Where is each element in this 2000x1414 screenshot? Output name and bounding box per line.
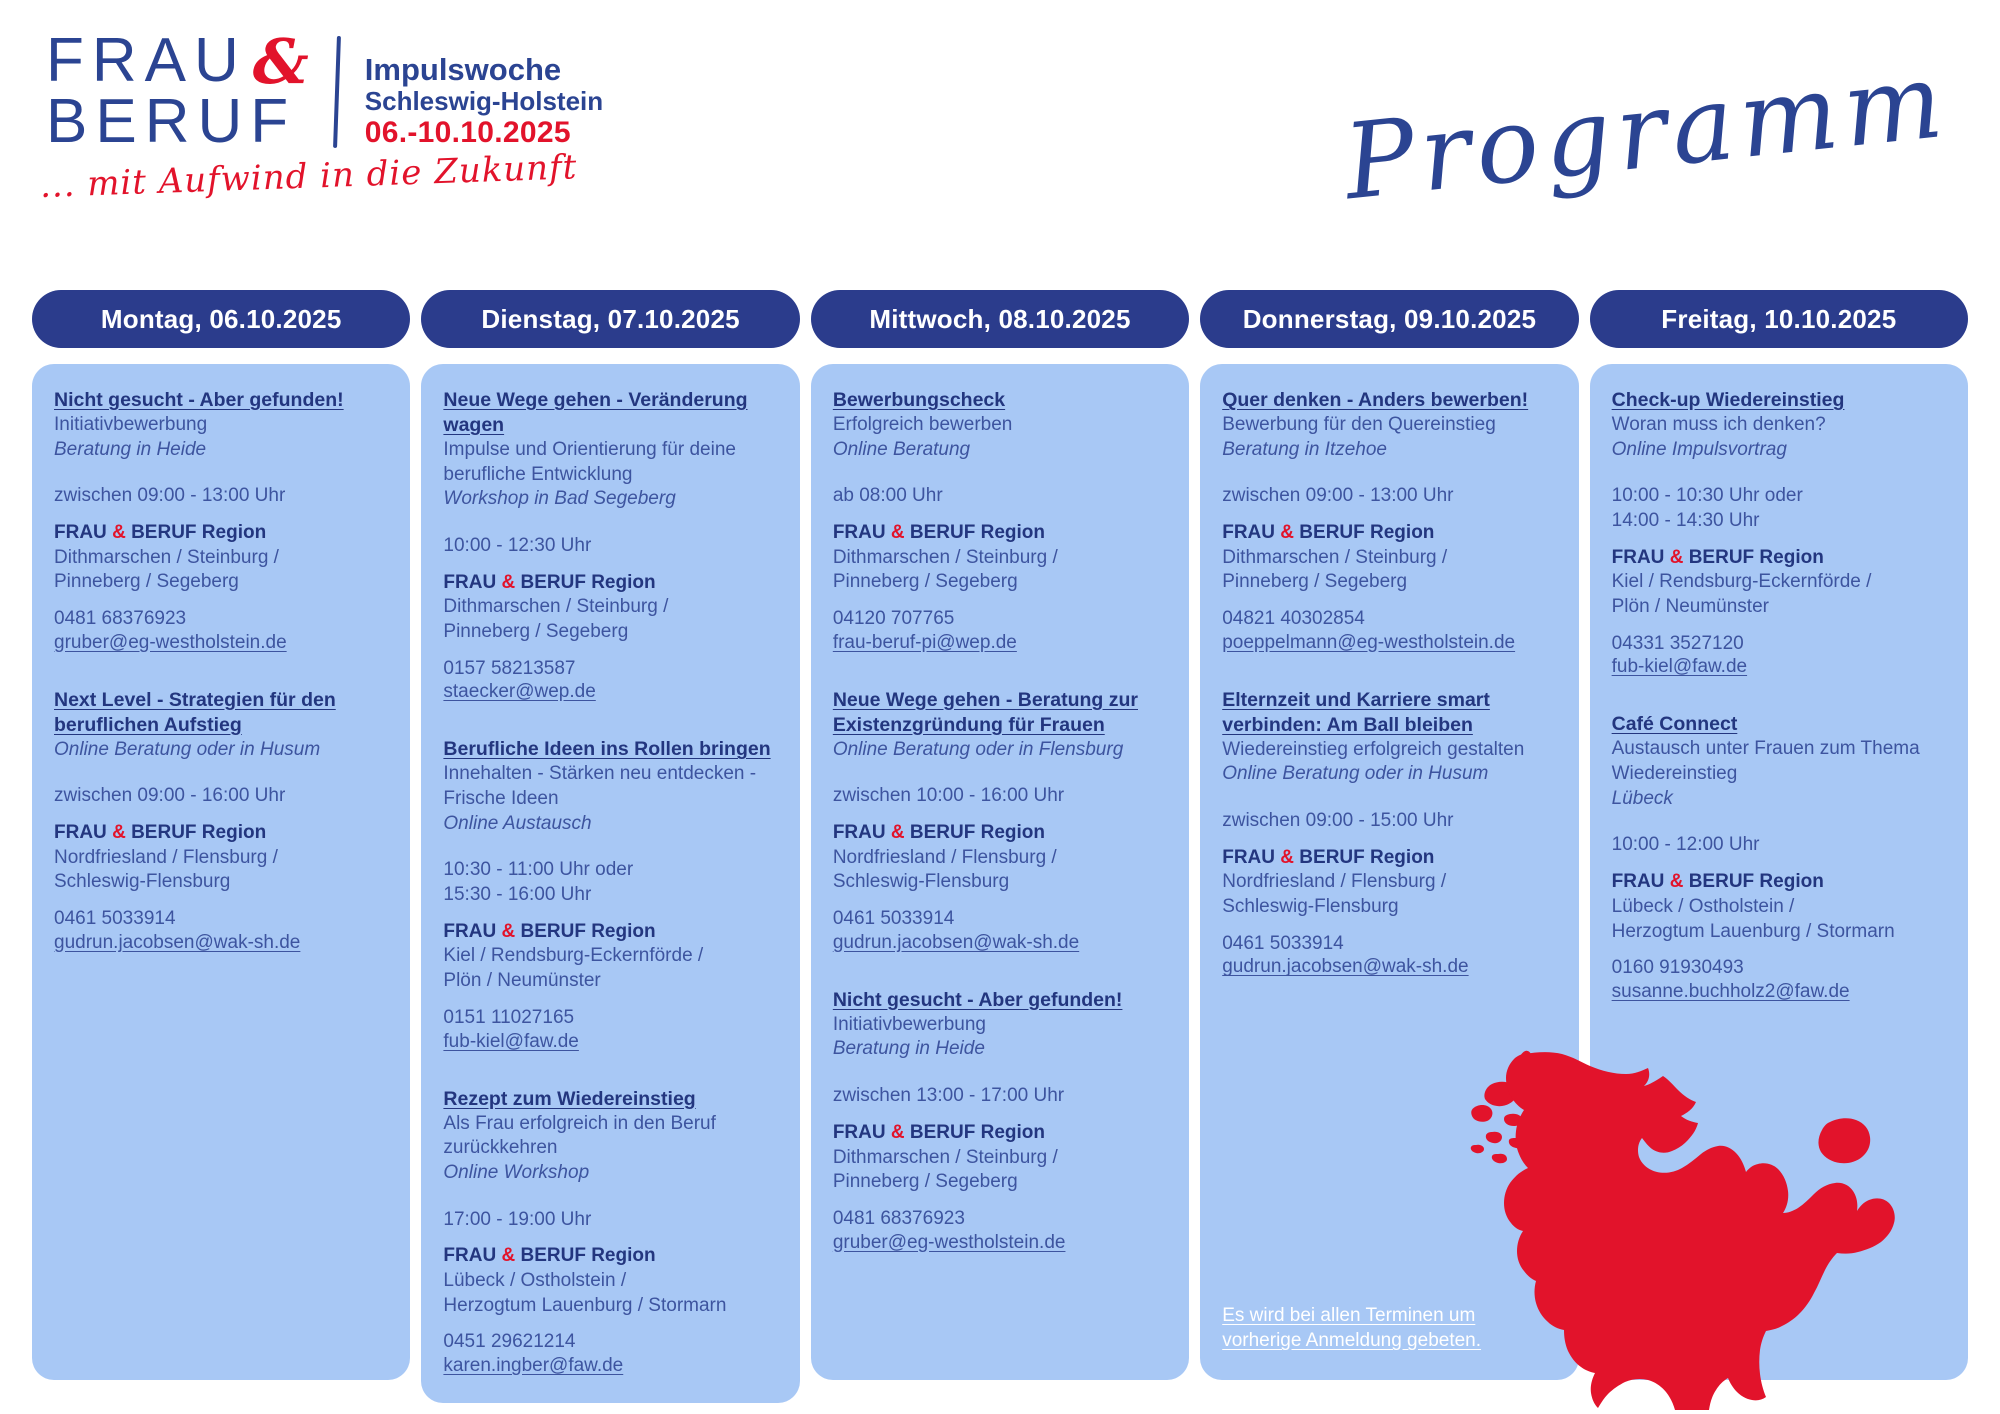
event-email-link[interactable]: fub-kiel@faw.de (443, 1031, 777, 1053)
event-format: Online Workshop (443, 1161, 777, 1186)
event-subtitle: Als Frau erfolgreich in den Beruf zurück… (443, 1112, 777, 1161)
day-header-1[interactable]: Montag, 06.10.2025 (32, 290, 410, 348)
region-suffix: BERUF Region (905, 522, 1045, 543)
event-time: ab 08:00 Uhr (833, 484, 1167, 509)
event-item[interactable]: Berufliche Ideen ins Rollen bringenInneh… (443, 737, 777, 1052)
event-region-line-2: Plön / Neumünster (443, 969, 777, 994)
event-format: Beratung in Itzehoe (1222, 438, 1556, 463)
event-region-label: FRAU & BERUF Region (443, 920, 777, 945)
event-email-link[interactable]: susanne.buchholz2@faw.de (1612, 981, 1946, 1003)
event-region-line-2: Pinneberg / Segeberg (443, 620, 777, 645)
event-time: 10:00 - 12:30 Uhr (443, 534, 777, 559)
event-subtitle: Innehalten - Stärken neu entdecken - Fri… (443, 762, 777, 811)
event-region-line-1: Nordfriesland / Flensburg / (54, 846, 388, 871)
event-item[interactable]: Rezept zum WiedereinstiegAls Frau erfolg… (443, 1087, 777, 1377)
region-ampersand-icon: & (501, 921, 515, 942)
event-subtitle: Initiativbewerbung (54, 413, 388, 438)
event-region-line-2: Schleswig-Flensburg (833, 870, 1167, 895)
region-ampersand-icon: & (891, 822, 905, 843)
day-column: Montag, 06.10.2025Nicht gesucht - Aber g… (32, 290, 410, 1380)
event-phone[interactable]: 04821 40302854 (1222, 607, 1556, 632)
event-item[interactable]: Next Level - Strategien für den beruflic… (54, 688, 388, 954)
event-subtitle: Impulse und Orientierung für deine beruf… (443, 438, 777, 487)
event-title[interactable]: Neue Wege gehen - Veränderung wagen (443, 388, 777, 438)
event-item[interactable]: BewerbungscheckErfolgreich bewerbenOnlin… (833, 388, 1167, 654)
event-region-line-2: Schleswig-Flensburg (1222, 895, 1556, 920)
region-prefix: FRAU (54, 522, 112, 543)
event-time-alt: 14:00 - 14:30 Uhr (1612, 509, 1946, 534)
poster-header: FRAU & BERUF Impulswoche Schleswig-Holst… (0, 0, 2000, 290)
event-time: 10:30 - 11:00 Uhr oder (443, 858, 777, 883)
region-suffix: BERUF Region (905, 822, 1045, 843)
event-region-line-1: Dithmarschen / Steinburg / (54, 546, 388, 571)
event-subtitle: Woran muss ich denken? (1612, 413, 1946, 438)
day-column: Dienstag, 07.10.2025Neue Wege gehen - Ve… (421, 290, 799, 1380)
region-suffix: BERUF Region (1683, 547, 1823, 568)
region-ampersand-icon: & (501, 572, 515, 593)
event-region-label: FRAU & BERUF Region (1222, 521, 1556, 546)
event-email-link[interactable]: karen.ingber@faw.de (443, 1355, 777, 1377)
event-item[interactable]: Neue Wege gehen - Beratung zur Existenzg… (833, 688, 1167, 954)
event-region-label: FRAU & BERUF Region (1612, 546, 1946, 571)
region-prefix: FRAU (443, 921, 501, 942)
event-region-line-2: Herzogtum Lauenburg / Stormarn (443, 1294, 777, 1319)
event-region-line-1: Dithmarschen / Steinburg / (833, 1146, 1167, 1171)
event-region-line-2: Schleswig-Flensburg (54, 870, 388, 895)
region-ampersand-icon: & (1670, 547, 1684, 568)
event-time: zwischen 09:00 - 16:00 Uhr (54, 784, 388, 809)
region-suffix: BERUF Region (905, 1122, 1045, 1143)
event-region-label: FRAU & BERUF Region (54, 521, 388, 546)
program-poster: FRAU & BERUF Impulswoche Schleswig-Holst… (0, 0, 2000, 1414)
region-suffix: BERUF Region (515, 921, 655, 942)
logo-impulswoche: Impulswoche (365, 52, 603, 87)
region-prefix: FRAU (1612, 871, 1670, 892)
event-format: Beratung in Heide (833, 1037, 1167, 1062)
region-ampersand-icon: & (891, 522, 905, 543)
region-suffix: BERUF Region (1294, 522, 1434, 543)
logo-word-frau: FRAU (46, 31, 247, 92)
logo-word-beruf: BERUF (46, 92, 296, 153)
event-region-line-2: Pinneberg / Segeberg (833, 570, 1167, 595)
event-title[interactable]: Elternzeit und Karriere smart verbinden:… (1222, 688, 1556, 738)
event-item[interactable]: Nicht gesucht - Aber gefunden!Initiativb… (833, 988, 1167, 1254)
event-region-line-2: Plön / Neumünster (1612, 595, 1946, 620)
region-suffix: BERUF Region (1294, 847, 1434, 868)
event-time: zwischen 13:00 - 17:00 Uhr (833, 1084, 1167, 1109)
event-item[interactable]: Nicht gesucht - Aber gefunden!Initiativb… (54, 388, 388, 654)
day-card: BewerbungscheckErfolgreich bewerbenOnlin… (811, 364, 1189, 1380)
logo-date-range: 06.-10.10.2025 (365, 116, 603, 150)
logo-wordmark: FRAU & BERUF (46, 30, 309, 153)
event-email-link[interactable]: gruber@eg-westholstein.de (833, 1232, 1167, 1254)
day-header-4[interactable]: Donnerstag, 09.10.2025 (1200, 290, 1578, 348)
event-format: Workshop in Bad Segeberg (443, 487, 777, 512)
logo-subtitle-block: Impulswoche Schleswig-Holstein 06.-10.10… (365, 30, 603, 150)
event-item[interactable]: Check-up WiedereinstiegWoran muss ich de… (1612, 388, 1946, 678)
event-format: Lübeck (1612, 787, 1946, 812)
logo-tagline: ... mit Aufwind in die Zukunft (39, 147, 578, 206)
event-phone[interactable]: 0451 29621214 (443, 1330, 777, 1355)
region-ampersand-icon: & (501, 1245, 515, 1266)
event-subtitle: Bewerbung für den Quereinstieg (1222, 413, 1556, 438)
event-region-label: FRAU & BERUF Region (833, 821, 1167, 846)
event-region-line-2: Pinneberg / Segeberg (1222, 570, 1556, 595)
event-item[interactable]: Elternzeit und Karriere smart verbinden:… (1222, 688, 1556, 979)
event-region-line-1: Kiel / Rendsburg-Eckernförde / (1612, 570, 1946, 595)
event-subtitle: Erfolgreich bewerben (833, 413, 1167, 438)
region-prefix: FRAU (833, 522, 891, 543)
region-ampersand-icon: & (112, 822, 126, 843)
event-phone[interactable]: 0151 11027165 (443, 1006, 777, 1031)
event-title[interactable]: Check-up Wiedereinstieg (1612, 388, 1946, 413)
logo-ampersand-icon: & (253, 32, 309, 93)
event-region-line-2: Pinneberg / Segeberg (833, 1170, 1167, 1195)
day-header-3[interactable]: Mittwoch, 08.10.2025 (811, 290, 1189, 348)
region-suffix: BERUF Region (126, 822, 266, 843)
event-subtitle: Initiativbewerbung (833, 1013, 1167, 1038)
event-region-line-1: Lübeck / Ostholstein / (1612, 895, 1946, 920)
event-time: zwischen 09:00 - 13:00 Uhr (54, 484, 388, 509)
event-time: zwischen 09:00 - 15:00 Uhr (1222, 809, 1556, 834)
event-phone[interactable]: 0157 58213587 (443, 657, 777, 682)
event-item[interactable]: Neue Wege gehen - Veränderung wagenImpul… (443, 388, 777, 703)
registration-note: Es wird bei allen Terminen um vorherige … (1222, 1303, 1556, 1354)
event-subtitle: Wiedereinstieg erfolgreich gestalten (1222, 738, 1556, 763)
event-phone[interactable]: 0481 68376923 (833, 1207, 1167, 1232)
event-time: zwischen 09:00 - 13:00 Uhr (1222, 484, 1556, 509)
event-format: Online Beratung oder in Flensburg (833, 738, 1167, 763)
event-format: Online Beratung (833, 438, 1167, 463)
event-email-link[interactable]: gudrun.jacobsen@wak-sh.de (54, 932, 388, 954)
event-email-link[interactable]: gruber@eg-westholstein.de (54, 632, 388, 654)
event-item[interactable]: Quer denken - Anders bewerben!Bewerbung … (1222, 388, 1556, 654)
event-region-label: FRAU & BERUF Region (443, 1244, 777, 1269)
event-title[interactable]: Bewerbungscheck (833, 388, 1167, 413)
region-ampersand-icon: & (1280, 847, 1294, 868)
day-column: Mittwoch, 08.10.2025BewerbungscheckErfol… (811, 290, 1189, 1380)
event-item[interactable]: Café ConnectAustausch unter Frauen zum T… (1612, 712, 1946, 1002)
region-prefix: FRAU (833, 1122, 891, 1143)
event-region-line-2: Pinneberg / Segeberg (54, 570, 388, 595)
region-prefix: FRAU (443, 572, 501, 593)
day-card: Neue Wege gehen - Veränderung wagenImpul… (421, 364, 799, 1403)
day-column: Donnerstag, 09.10.2025Quer denken - Ande… (1200, 290, 1578, 1380)
event-title[interactable]: Café Connect (1612, 712, 1946, 737)
event-region-line-1: Dithmarschen / Steinburg / (833, 546, 1167, 571)
event-title[interactable]: Berufliche Ideen ins Rollen bringen (443, 737, 777, 762)
event-title[interactable]: Nicht gesucht - Aber gefunden! (833, 988, 1167, 1013)
day-column: Freitag, 10.10.2025Check-up Wiedereinsti… (1590, 290, 1968, 1380)
region-ampersand-icon: & (112, 522, 126, 543)
event-region-line-1: Nordfriesland / Flensburg / (833, 846, 1167, 871)
region-prefix: FRAU (1222, 522, 1280, 543)
region-prefix: FRAU (54, 822, 112, 843)
event-phone[interactable]: 0461 5033914 (833, 907, 1167, 932)
event-phone[interactable]: 04331 3527120 (1612, 632, 1946, 657)
event-title[interactable]: Next Level - Strategien für den beruflic… (54, 688, 388, 738)
event-region-line-1: Dithmarschen / Steinburg / (1222, 546, 1556, 571)
event-format: Online Beratung oder in Husum (54, 738, 388, 763)
event-format: Beratung in Heide (54, 438, 388, 463)
event-format: Online Impulsvortrag (1612, 438, 1946, 463)
region-suffix: BERUF Region (515, 1245, 655, 1266)
event-region-line-1: Nordfriesland / Flensburg / (1222, 870, 1556, 895)
event-region-line-2: Herzogtum Lauenburg / Stormarn (1612, 920, 1946, 945)
event-region-line-1: Kiel / Rendsburg-Eckernförde / (443, 944, 777, 969)
event-email-link[interactable]: fub-kiel@faw.de (1612, 656, 1946, 678)
event-time: zwischen 10:00 - 16:00 Uhr (833, 784, 1167, 809)
logo-divider (333, 36, 341, 148)
event-email-link[interactable]: gudrun.jacobsen@wak-sh.de (833, 932, 1167, 954)
event-email-link[interactable]: gudrun.jacobsen@wak-sh.de (1222, 956, 1556, 978)
event-region-label: FRAU & BERUF Region (833, 521, 1167, 546)
event-email-link[interactable]: staecker@wep.de (443, 681, 777, 703)
event-phone[interactable]: 04120 707765 (833, 607, 1167, 632)
region-prefix: FRAU (833, 822, 891, 843)
day-header-5[interactable]: Freitag, 10.10.2025 (1590, 290, 1968, 348)
day-card: Nicht gesucht - Aber gefunden!Initiativb… (32, 364, 410, 1380)
event-title[interactable]: Quer denken - Anders bewerben! (1222, 388, 1556, 413)
event-region-label: FRAU & BERUF Region (833, 1121, 1167, 1146)
region-prefix: FRAU (1612, 547, 1670, 568)
program-week-grid: Montag, 06.10.2025Nicht gesucht - Aber g… (32, 290, 1968, 1380)
event-region-label: FRAU & BERUF Region (1222, 846, 1556, 871)
region-prefix: FRAU (443, 1245, 501, 1266)
logo-schleswig-holstein: Schleswig-Holstein (365, 87, 603, 116)
event-phone[interactable]: 0461 5033914 (1222, 932, 1556, 957)
day-card: Check-up WiedereinstiegWoran muss ich de… (1590, 364, 1968, 1380)
event-phone[interactable]: 0160 91930493 (1612, 956, 1946, 981)
region-ampersand-icon: & (1280, 522, 1294, 543)
event-title[interactable]: Nicht gesucht - Aber gefunden! (54, 388, 388, 413)
event-region-label: FRAU & BERUF Region (1612, 870, 1946, 895)
event-region-line-1: Dithmarschen / Steinburg / (443, 595, 777, 620)
day-card: Quer denken - Anders bewerben!Bewerbung … (1200, 364, 1578, 1380)
day-header-2[interactable]: Dienstag, 07.10.2025 (421, 290, 799, 348)
region-prefix: FRAU (1222, 847, 1280, 868)
region-ampersand-icon: & (1670, 871, 1684, 892)
event-time-alt: 15:30 - 16:00 Uhr (443, 883, 777, 908)
event-time: 10:00 - 10:30 Uhr oder (1612, 484, 1946, 509)
event-region-label: FRAU & BERUF Region (443, 571, 777, 596)
region-suffix: BERUF Region (1683, 871, 1823, 892)
event-format: Online Beratung oder in Husum (1222, 762, 1556, 787)
event-format: Online Austausch (443, 812, 777, 837)
event-region-label: FRAU & BERUF Region (54, 821, 388, 846)
event-email-link[interactable]: frau-beruf-pi@wep.de (833, 632, 1167, 654)
event-time: 17:00 - 19:00 Uhr (443, 1208, 777, 1233)
event-email-link[interactable]: poeppelmann@eg-westholstein.de (1222, 632, 1556, 654)
event-title[interactable]: Rezept zum Wiedereinstieg (443, 1087, 777, 1112)
event-subtitle: Austausch unter Frauen zum Thema Wiedere… (1612, 737, 1946, 786)
event-phone[interactable]: 0461 5033914 (54, 907, 388, 932)
page-title: Programm (1339, 39, 1954, 224)
event-phone[interactable]: 0481 68376923 (54, 607, 388, 632)
frau-und-beruf-logo: FRAU & BERUF Impulswoche Schleswig-Holst… (46, 30, 603, 153)
event-region-line-1: Lübeck / Ostholstein / (443, 1269, 777, 1294)
region-suffix: BERUF Region (126, 522, 266, 543)
event-title[interactable]: Neue Wege gehen - Beratung zur Existenzg… (833, 688, 1167, 738)
region-suffix: BERUF Region (515, 572, 655, 593)
region-ampersand-icon: & (891, 1122, 905, 1143)
event-time: 10:00 - 12:00 Uhr (1612, 833, 1946, 858)
